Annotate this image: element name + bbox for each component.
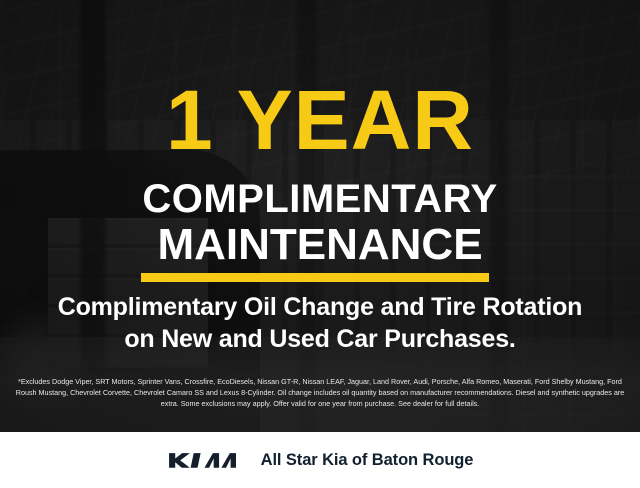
promo-banner: 1 YEAR COMPLIMENTARY MAINTENANCE Complim… — [0, 0, 640, 488]
headline-subtitle-line-1: COMPLIMENTARY — [142, 177, 497, 221]
footer-bar: All Star Kia of Baton Rouge — [0, 432, 640, 488]
disclaimer-text: *Excludes Dodge Viper, SRT Motors, Sprin… — [14, 377, 626, 410]
hero-section: 1 YEAR COMPLIMENTARY MAINTENANCE Complim… — [0, 0, 640, 432]
headline-year: 1 YEAR — [0, 82, 640, 159]
offer-line-2: on New and Used Car Purchases. — [124, 325, 515, 353]
offer-line-1: Complimentary Oil Change and Tire Rotati… — [58, 293, 583, 321]
headline-subtitle: COMPLIMENTARY MAINTENANCE — [0, 178, 640, 268]
dealer-name: All Star Kia of Baton Rouge — [261, 451, 474, 470]
headline-subtitle-line-2: MAINTENANCE — [0, 221, 640, 268]
kia-logo-icon — [167, 450, 245, 470]
offer-description: Complimentary Oil Change and Tire Rotati… — [24, 292, 616, 355]
hero-content: 1 YEAR COMPLIMENTARY MAINTENANCE Complim… — [0, 0, 640, 432]
yellow-divider-rule — [141, 273, 489, 282]
